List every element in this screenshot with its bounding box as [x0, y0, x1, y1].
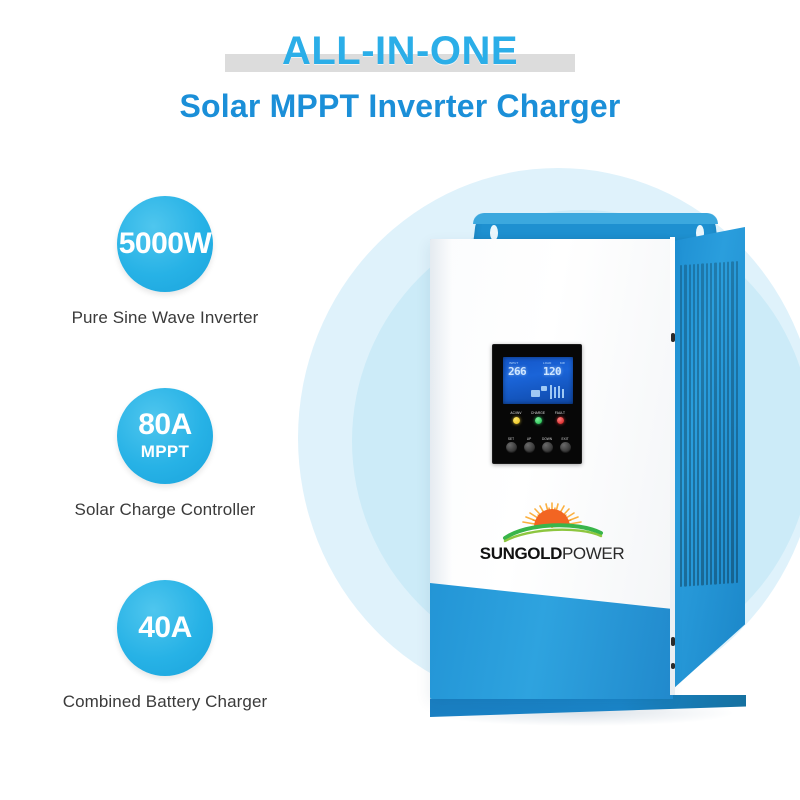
button-dot-icon[interactable] — [524, 442, 535, 453]
brand-name: SUNGOLDPOWER — [472, 545, 632, 562]
feature-label: Solar Charge Controller — [0, 500, 330, 520]
badge-value: 80A — [138, 410, 192, 440]
brand-logo: SUNGOLDPOWER — [472, 501, 632, 581]
brand-name-secondary: POWER — [562, 544, 624, 563]
panel-screw-icon — [671, 333, 675, 342]
product-side-panel — [673, 227, 745, 689]
product-poster: ALL-IN-ONE Solar MPPT Inverter Charger 5… — [0, 0, 800, 800]
feature-item-charge-controller: 80A MPPT Solar Charge Controller — [0, 388, 330, 580]
lcd-battery-bar-icon — [562, 389, 564, 398]
vent-slat — [714, 262, 716, 584]
feature-list: 5000W Pure Sine Wave Inverter 80A MPPT S… — [0, 196, 330, 772]
button-dot-icon[interactable] — [506, 442, 517, 453]
feature-label: Pure Sine Wave Inverter — [0, 308, 330, 328]
lcd-battery-bar-icon — [550, 385, 552, 399]
lcd-battery-bar-icon — [558, 386, 560, 398]
badge-value: 5000W — [119, 229, 212, 259]
product-edge-seam — [670, 237, 675, 695]
feature-label: Combined Battery Charger — [0, 692, 330, 712]
vent-slat — [736, 261, 738, 583]
vent-slat — [684, 265, 686, 587]
led-indicator-ac-inv: AC/INV — [505, 411, 527, 424]
page-subtitle: Solar MPPT Inverter Charger — [0, 88, 800, 125]
led-lamp-green-icon — [535, 417, 542, 424]
badge-value: 40A — [138, 613, 192, 643]
product-front-face: INPUT LOAD KW 266 120 — [430, 239, 673, 699]
lcd-grid-icon — [531, 390, 540, 397]
button-dot-icon[interactable] — [542, 442, 553, 453]
vent-slat — [701, 263, 703, 585]
vent-slat — [727, 262, 729, 584]
ventilation-grille — [680, 261, 738, 587]
control-panel: INPUT LOAD KW 266 120 — [492, 344, 582, 464]
vent-slat — [723, 262, 725, 584]
badge-5000w: 5000W — [117, 196, 213, 292]
lcd-solar-icon — [541, 386, 547, 391]
poster-header: ALL-IN-ONE Solar MPPT Inverter Charger — [0, 0, 800, 150]
led-label: FAULT — [549, 411, 571, 415]
feature-item-inverter: 5000W Pure Sine Wave Inverter — [0, 196, 330, 388]
vent-slat — [689, 264, 691, 586]
product-image: INPUT LOAD KW 266 120 — [430, 215, 760, 725]
led-lamp-red-icon — [557, 417, 564, 424]
lcd-display: INPUT LOAD KW 266 120 — [503, 357, 573, 404]
brand-name-primary: SUNGOLD — [480, 544, 562, 563]
button-up[interactable]: UP — [520, 437, 538, 453]
mounting-bracket-top-edge — [473, 213, 718, 224]
title-wrapper: ALL-IN-ONE — [0, 22, 800, 82]
button-dot-icon[interactable] — [560, 442, 571, 453]
vent-slat — [731, 261, 733, 583]
button-set[interactable]: SET — [502, 437, 520, 453]
lcd-status-icons — [531, 385, 567, 400]
vent-slat — [706, 263, 708, 585]
button-down[interactable]: DOWN — [538, 437, 556, 453]
panel-screw-icon — [671, 663, 675, 669]
led-label: CHARGE — [527, 411, 549, 415]
vent-slat — [693, 264, 695, 586]
sunburst-icon — [497, 501, 607, 543]
vent-slat — [719, 262, 721, 584]
lcd-value-output: 120 — [543, 365, 561, 378]
button-label: EXIT — [556, 437, 574, 441]
product-front-blue-band — [430, 583, 673, 699]
button-label: UP — [520, 437, 538, 441]
button-label: SET — [502, 437, 520, 441]
badge-80a-mppt: 80A MPPT — [117, 388, 213, 484]
panel-screw-icon — [671, 637, 675, 646]
led-label: AC/INV — [505, 411, 527, 415]
led-indicator-charge: CHARGE — [527, 411, 549, 424]
led-indicator-fault: FAULT — [549, 411, 571, 424]
vent-slat — [697, 264, 699, 586]
lcd-value-input: 266 — [508, 365, 526, 378]
feature-item-battery-charger: 40A Combined Battery Charger — [0, 580, 330, 772]
bracket-keyhole-left-icon — [490, 225, 498, 240]
led-indicator-row: AC/INV CHARGE FAULT — [505, 411, 571, 431]
button-exit[interactable]: EXIT — [556, 437, 574, 453]
vent-slat — [710, 263, 712, 585]
lcd-battery-bar-icon — [554, 387, 556, 398]
control-button-row: SET UP DOWN EXIT — [502, 437, 574, 459]
button-label: DOWN — [538, 437, 556, 441]
badge-subvalue: MPPT — [141, 442, 189, 462]
badge-40a: 40A — [117, 580, 213, 676]
vent-slat — [680, 265, 682, 587]
page-title: ALL-IN-ONE — [0, 22, 800, 80]
led-lamp-yellow-icon — [513, 417, 520, 424]
